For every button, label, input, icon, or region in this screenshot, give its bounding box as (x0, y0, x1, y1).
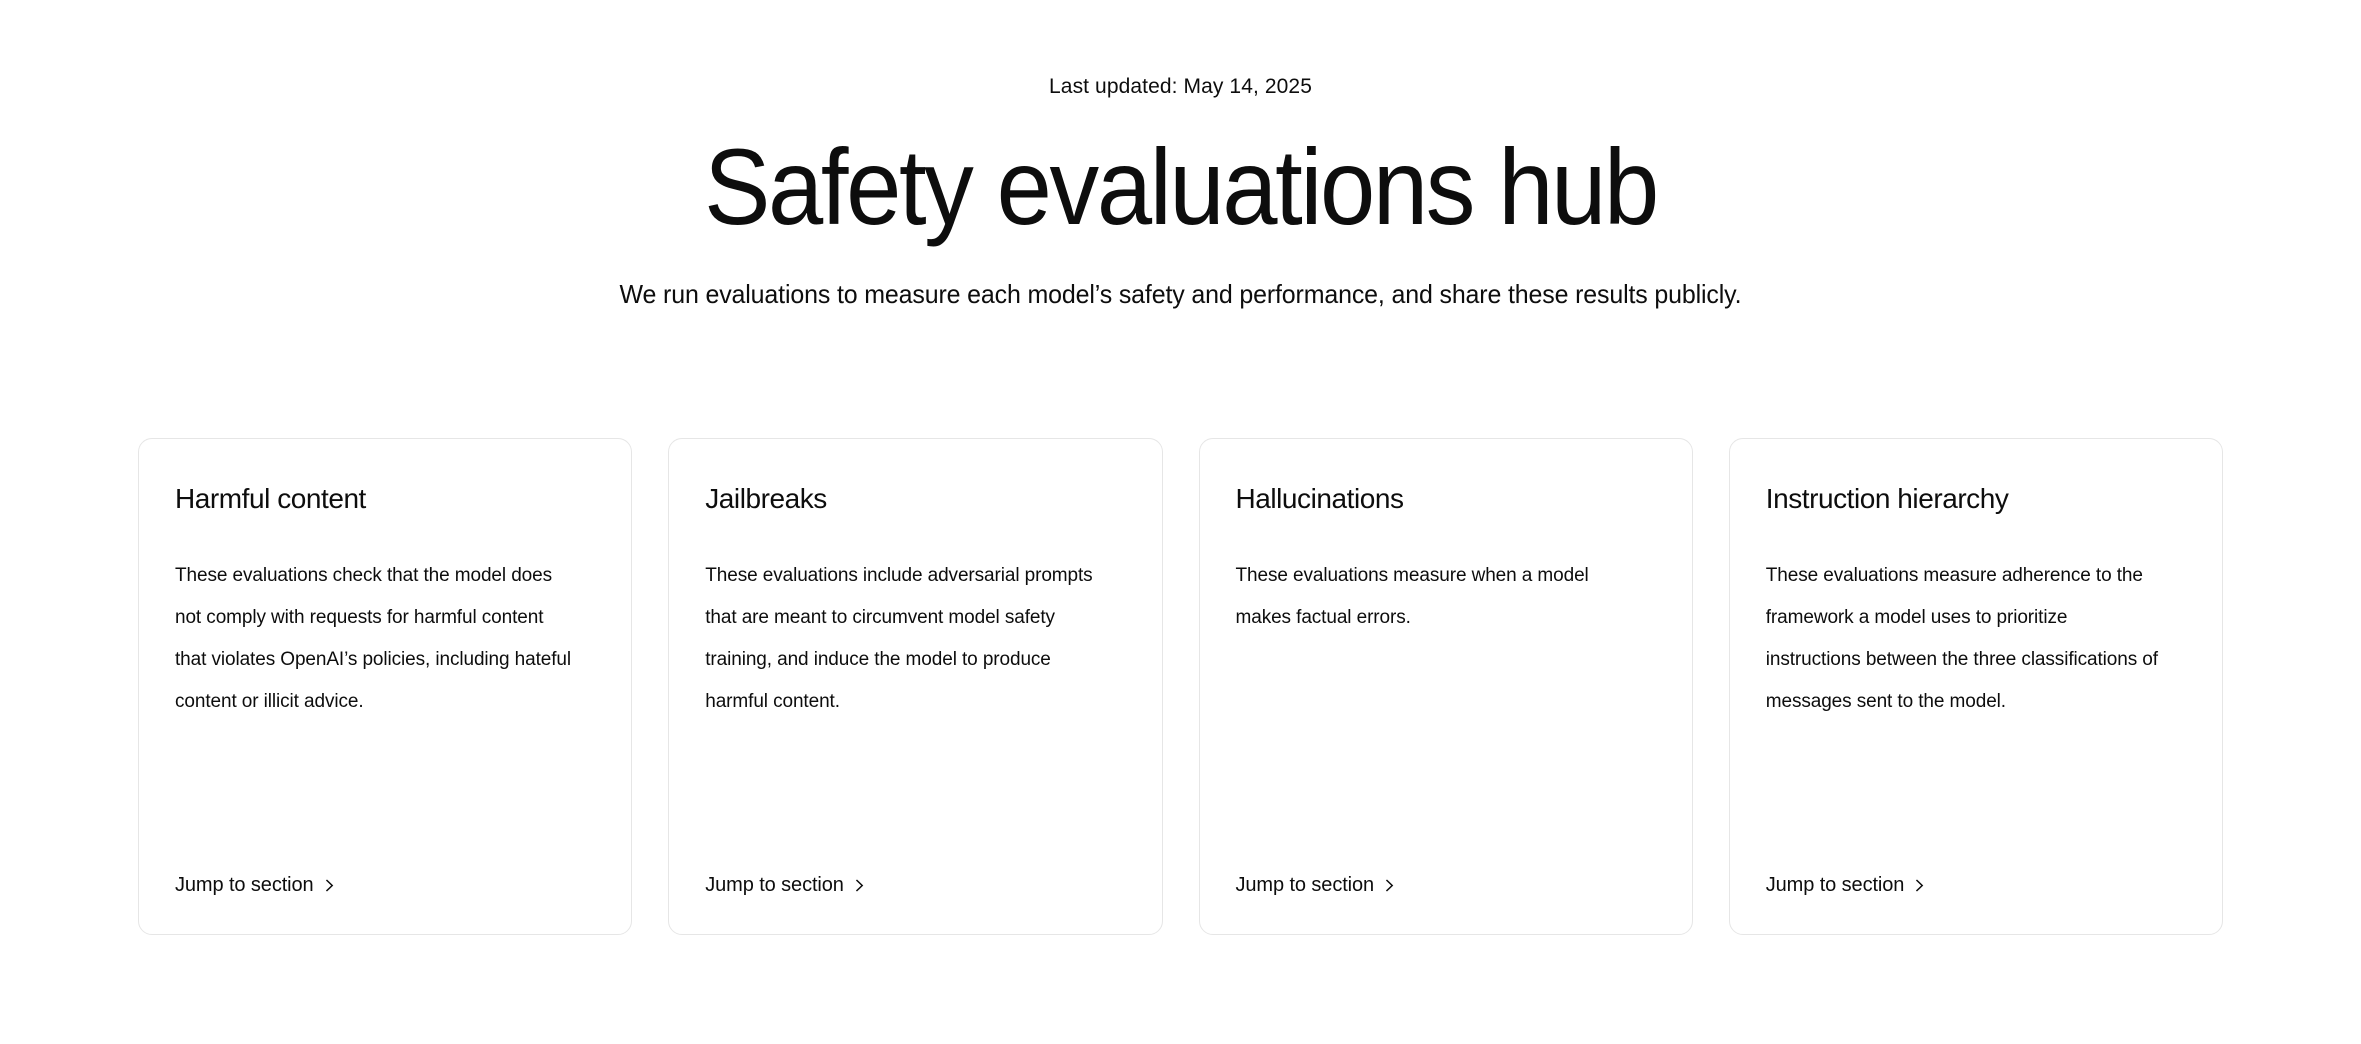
chevron-right-icon (853, 879, 866, 892)
jump-to-section-label: Jump to section (705, 872, 844, 898)
card-description: These evaluations measure when a model m… (1236, 555, 1636, 639)
chevron-right-icon (1383, 879, 1396, 892)
card-title: Harmful content (175, 481, 595, 517)
card-instruction-hierarchy[interactable]: Instruction hierarchy These evaluations … (1729, 438, 2223, 935)
jump-to-section-label: Jump to section (1236, 872, 1375, 898)
jump-to-section-label: Jump to section (1766, 872, 1905, 898)
section-card-grid: Harmful content These evaluations check … (138, 438, 2223, 935)
last-updated-text: Last updated: May 14, 2025 (0, 73, 2361, 101)
page-header: Last updated: May 14, 2025 Safety evalua… (0, 0, 2361, 311)
page-title: Safety evaluations hub (94, 129, 2266, 245)
page-subtitle: We run evaluations to measure each model… (47, 277, 2314, 311)
chevron-right-icon (323, 879, 336, 892)
card-description: These evaluations include adversarial pr… (705, 555, 1105, 723)
jump-to-section-link[interactable]: Jump to section (705, 872, 866, 898)
jump-to-section-link[interactable]: Jump to section (175, 872, 336, 898)
jump-to-section-link[interactable]: Jump to section (1236, 872, 1397, 898)
card-hallucinations[interactable]: Hallucinations These evaluations measure… (1199, 438, 1693, 935)
chevron-right-icon (1913, 879, 1926, 892)
card-description: These evaluations check that the model d… (175, 555, 575, 723)
card-title: Instruction hierarchy (1766, 481, 2186, 517)
card-title: Jailbreaks (705, 481, 1125, 517)
card-description: These evaluations measure adherence to t… (1766, 555, 2166, 723)
jump-to-section-label: Jump to section (175, 872, 314, 898)
card-harmful-content[interactable]: Harmful content These evaluations check … (138, 438, 632, 935)
card-jailbreaks[interactable]: Jailbreaks These evaluations include adv… (668, 438, 1162, 935)
safety-evaluations-hub-page: Last updated: May 14, 2025 Safety evalua… (0, 0, 2361, 1044)
jump-to-section-link[interactable]: Jump to section (1766, 872, 1927, 898)
card-title: Hallucinations (1236, 481, 1656, 517)
